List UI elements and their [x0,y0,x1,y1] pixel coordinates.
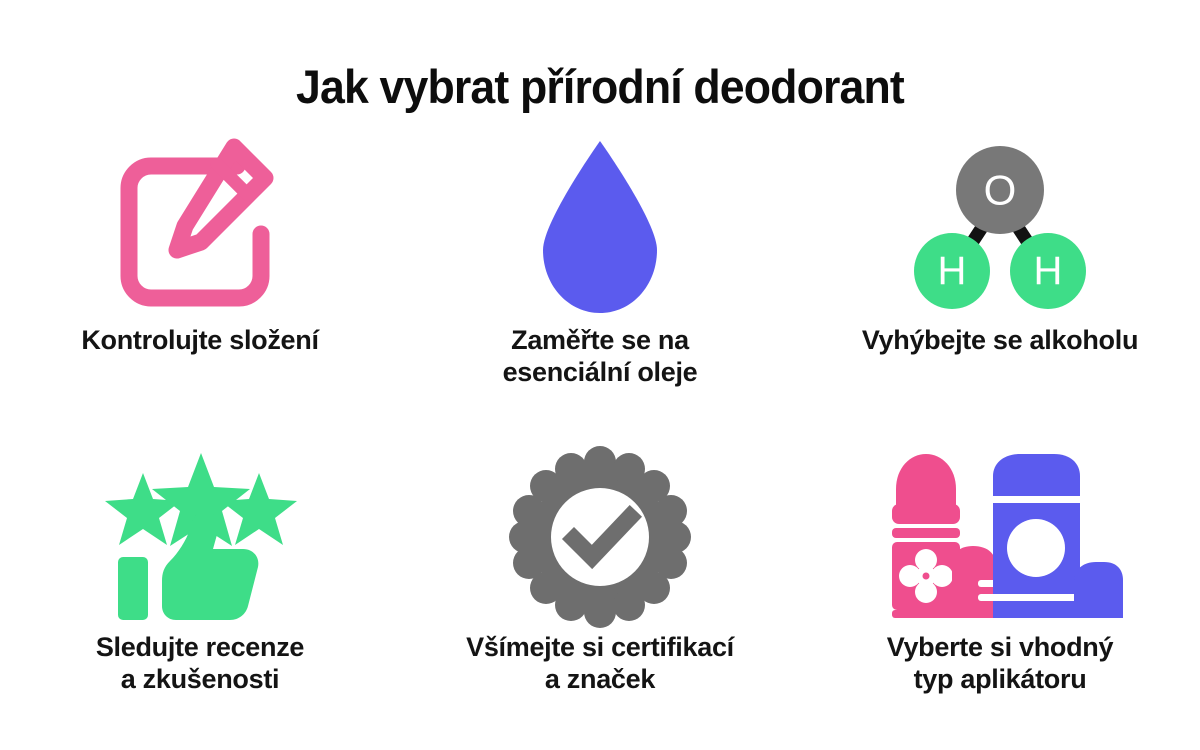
tip-card-applicator-type: Vyberte si vhodný typ aplikátoru [800,435,1200,744]
thumb-base-block [118,557,148,620]
water-drop-icon-wrap [525,135,675,320]
tip-label-line: Kontrolujte složení [81,324,318,356]
tip-card-certifications: Všímejte si certifikací a značek [400,435,800,744]
tip-label-line: Sledujte recenze [96,631,304,663]
deodorant-applicators-icon-wrap [878,447,1123,627]
tip-card-essential-oils: Zaměřte se na esenciální oleje [400,125,800,434]
tip-label-avoid-alcohol: Vyhýbejte se alkoholu [862,324,1138,356]
tip-label-certifications: Všímejte si certifikací a značek [466,631,734,695]
h2o-molecule-icon: O H H [895,140,1105,315]
star-left [105,473,181,545]
edit-document-pencil-icon-wrap [105,135,295,320]
tip-label-line: Všímejte si certifikací [466,631,734,663]
certified-badge-check-icon-wrap [514,447,686,627]
page-title: Jak vybrat přírodní deodorant [30,0,1170,111]
certified-badge-check-icon [514,451,686,623]
tip-label-line: a zkušenosti [96,663,304,695]
tip-card-follow-reviews: Sledujte recenze a zkušenosti [0,435,400,744]
oxygen-label: O [984,167,1017,214]
stick-cap-violet [1074,562,1123,618]
rollon-bottle-pink [892,454,960,618]
edit-document-pencil-icon [105,138,295,318]
tip-label-line: Vyhýbejte se alkoholu [862,324,1138,356]
water-drop-icon [525,135,675,320]
infographic-root: Jak vybrat přírodní deodorant Kontrolujt… [0,0,1200,750]
tip-label-follow-reviews: Sledujte recenze a zkušenosti [96,631,304,695]
tips-grid: Kontrolujte složení Zaměřte se na esenci… [0,111,1200,750]
tip-label-line: Vyberte si vhodný [887,631,1113,663]
hydrogen-right-label: H [1034,249,1063,293]
tip-label-line: esenciální oleje [503,356,698,388]
tip-label-line: a značek [466,663,734,695]
star-right [221,473,297,545]
tip-label-line: Zaměřte se na [503,324,698,356]
tip-label-essential-oils: Zaměřte se na esenciální oleje [503,324,698,388]
tip-label-applicator-type: Vyberte si vhodný typ aplikátoru [887,631,1113,695]
thumbs-up-stars-icon [108,451,293,623]
deodorant-applicators-icon [878,452,1123,622]
hydrogen-left-label: H [938,249,967,293]
thumbs-up-stars-icon-wrap [108,447,293,627]
tip-card-check-composition: Kontrolujte složení [0,125,400,434]
tip-label-line: typ aplikátoru [887,663,1113,695]
tip-label-check-composition: Kontrolujte složení [81,324,318,356]
stick-deodorant-violet [990,454,1083,618]
h2o-molecule-icon-wrap: O H H [895,135,1105,320]
tip-card-avoid-alcohol: O H H Vyhýbejte se alkoholu [800,125,1200,434]
